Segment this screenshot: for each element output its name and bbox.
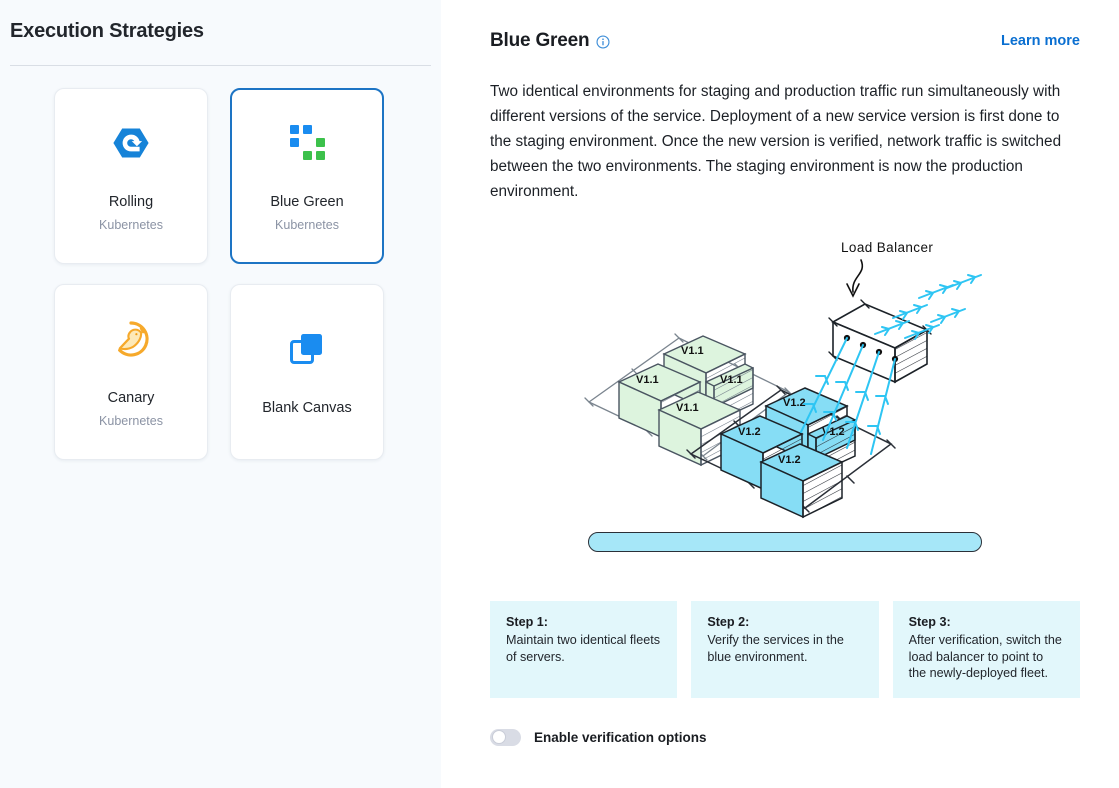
step-card-1: Step 1: Maintain two identical fleets of… (490, 601, 677, 698)
step-text: Maintain two identical fleets of servers… (506, 632, 661, 665)
svg-text:V1.1: V1.1 (636, 374, 659, 386)
strategy-card-rolling[interactable]: Rolling Kubernetes (54, 88, 208, 264)
svg-text:V1.2: V1.2 (778, 454, 801, 466)
detail-description: Two identical environments for staging a… (490, 79, 1080, 204)
canary-bird-icon (111, 316, 151, 362)
load-balancer-label: Load Balancer (841, 240, 933, 255)
strategy-card-blank-canvas[interactable]: Blank Canvas (230, 284, 384, 460)
load-balancer-box (829, 300, 931, 382)
strategies-sidebar: Execution Strategies Rolling Kubernetes (0, 0, 441, 788)
page-title: Execution Strategies (0, 0, 441, 43)
strategy-card-label: Blue Green (270, 194, 343, 211)
strategy-card-canary[interactable]: Canary Kubernetes (54, 284, 208, 460)
step-title: Step 3: (909, 615, 1064, 629)
svg-text:V1.1: V1.1 (676, 402, 699, 414)
verification-options-row: Enable verification options (490, 729, 1080, 746)
svg-text:V1.1: V1.1 (681, 345, 704, 357)
svg-text:V1.1: V1.1 (720, 374, 743, 386)
rolling-hexagon-icon (111, 120, 151, 166)
blue-green-diagram: V1.1 V1.1 V1.1 (490, 226, 1080, 526)
svg-text:V1.2: V1.2 (738, 426, 761, 438)
svg-text:V1.2: V1.2 (783, 397, 806, 409)
step-card-2: Step 2: Verify the services in the blue … (691, 601, 878, 698)
step-title: Step 2: (707, 615, 862, 629)
strategy-card-label: Canary (108, 390, 155, 407)
detail-header: Blue Green Learn more (490, 0, 1080, 52)
enable-verification-toggle[interactable] (490, 729, 521, 746)
toggle-knob (492, 730, 506, 744)
strategy-card-sublabel: Kubernetes (99, 414, 163, 428)
info-circle-icon[interactable] (596, 35, 610, 49)
step-card-3: Step 3: After verification, switch the l… (893, 601, 1080, 698)
steps-row: Step 1: Maintain two identical fleets of… (490, 601, 1080, 698)
strategy-card-sublabel: Kubernetes (99, 218, 163, 232)
learn-more-link[interactable]: Learn more (1001, 33, 1080, 49)
detail-title: Blue Green (490, 30, 589, 52)
strategy-card-sublabel: Kubernetes (275, 218, 339, 232)
strategy-detail-panel: Blue Green Learn more Two identical envi… (441, 0, 1119, 788)
strategy-card-label: Blank Canvas (262, 400, 351, 417)
traffic-bar (588, 532, 982, 552)
strategy-card-blue-green[interactable]: Blue Green Kubernetes (230, 88, 384, 264)
strategy-card-grid: Rolling Kubernetes Blue Green Kubernetes (0, 66, 441, 460)
step-title: Step 1: (506, 615, 661, 629)
strategy-card-label: Rolling (109, 194, 153, 211)
blue-green-grid-icon (290, 120, 325, 166)
blank-canvas-squares-icon (287, 326, 327, 372)
diagram-svg: V1.1 V1.1 V1.1 (575, 226, 995, 526)
execution-strategies-screen: Execution Strategies Rolling Kubernetes (0, 0, 1119, 788)
step-text: After verification, switch the load bala… (909, 632, 1064, 682)
step-text: Verify the services in the blue environm… (707, 632, 862, 665)
enable-verification-label: Enable verification options (534, 730, 707, 745)
